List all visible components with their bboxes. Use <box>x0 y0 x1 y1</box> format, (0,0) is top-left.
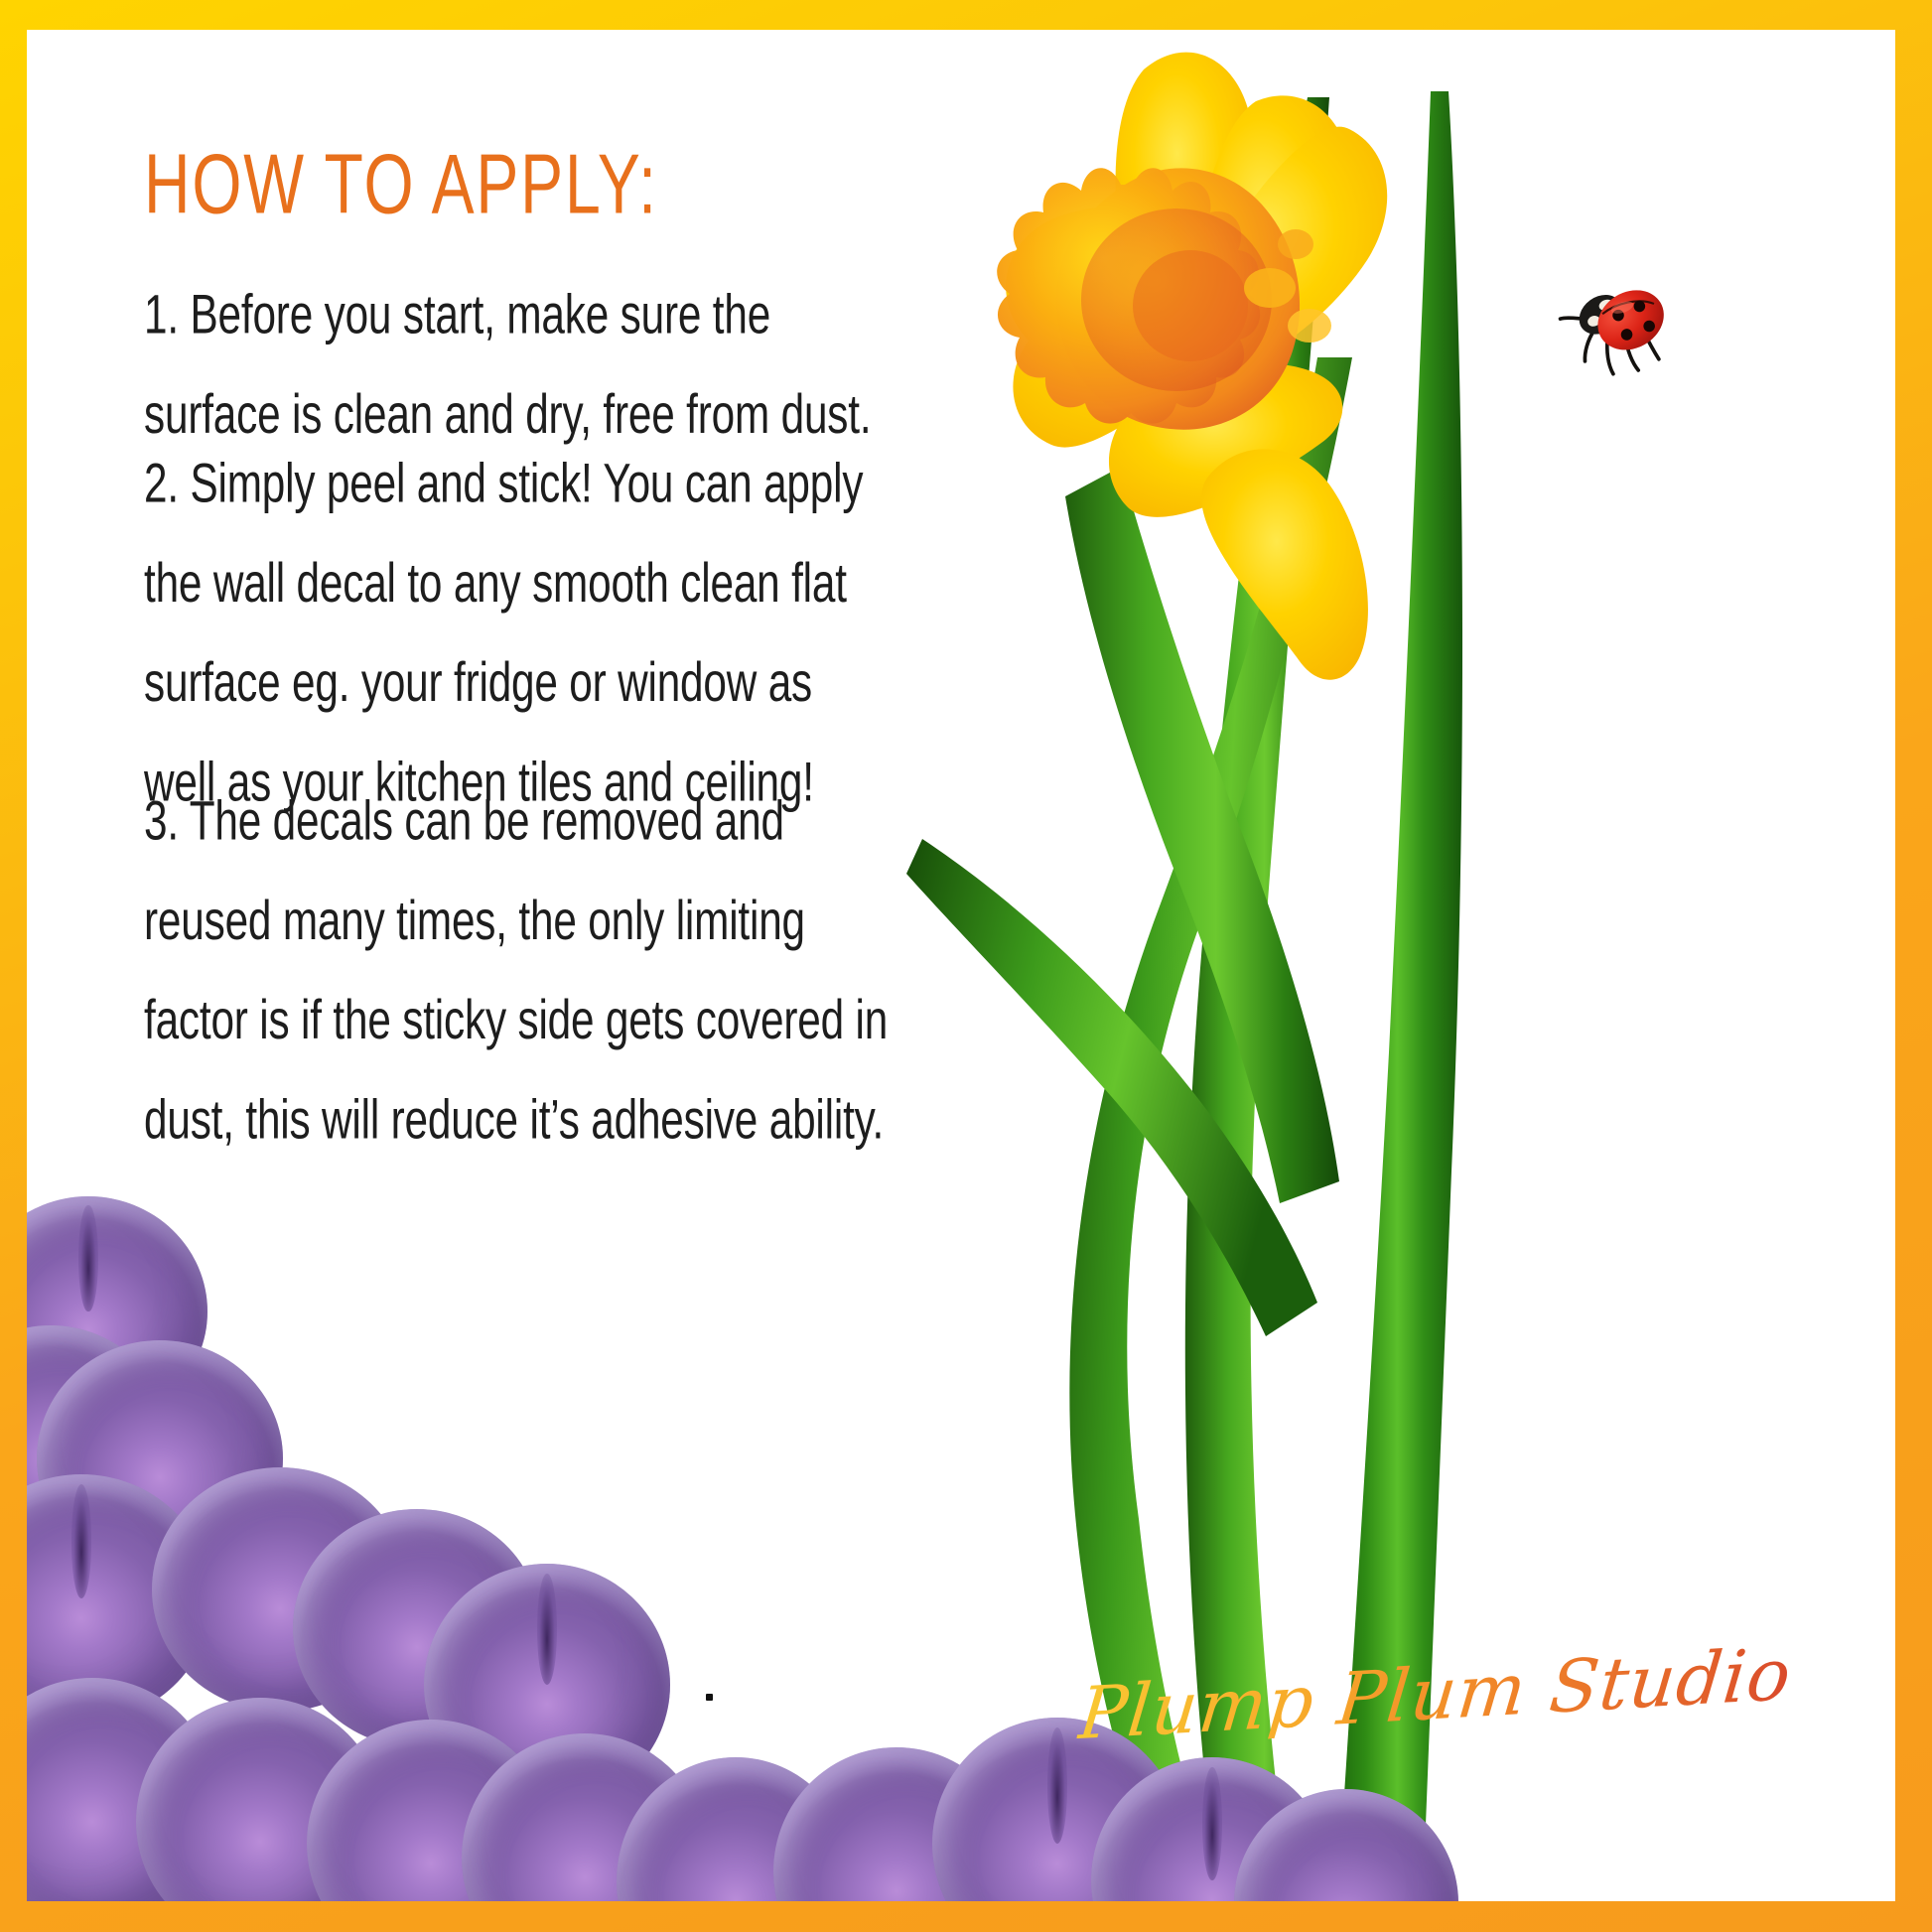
page-title: HOW TO APPLY: <box>144 141 911 225</box>
stray-period-mark <box>706 1694 713 1701</box>
plum-crease <box>71 1484 92 1598</box>
instruction-step-3: 3. The decals can be removed and reused … <box>144 770 895 1169</box>
brand-signature: Plump Plum Studio <box>1075 1638 1794 1750</box>
daffodil-flower <box>997 53 1387 680</box>
plum-crease <box>537 1574 557 1685</box>
plum-crease <box>1202 1767 1222 1880</box>
white-card: HOW TO APPLY: 1. Before you start, make … <box>27 30 1895 1901</box>
poster-canvas: HOW TO APPLY: 1. Before you start, make … <box>0 0 1932 1932</box>
ladybug-on-petal <box>1556 271 1684 388</box>
plum-crease <box>1047 1727 1067 1844</box>
daffodil-leaves <box>906 91 1462 1901</box>
plum-crease <box>78 1205 97 1311</box>
instructions-block: HOW TO APPLY: 1. Before you start, make … <box>144 149 978 1108</box>
